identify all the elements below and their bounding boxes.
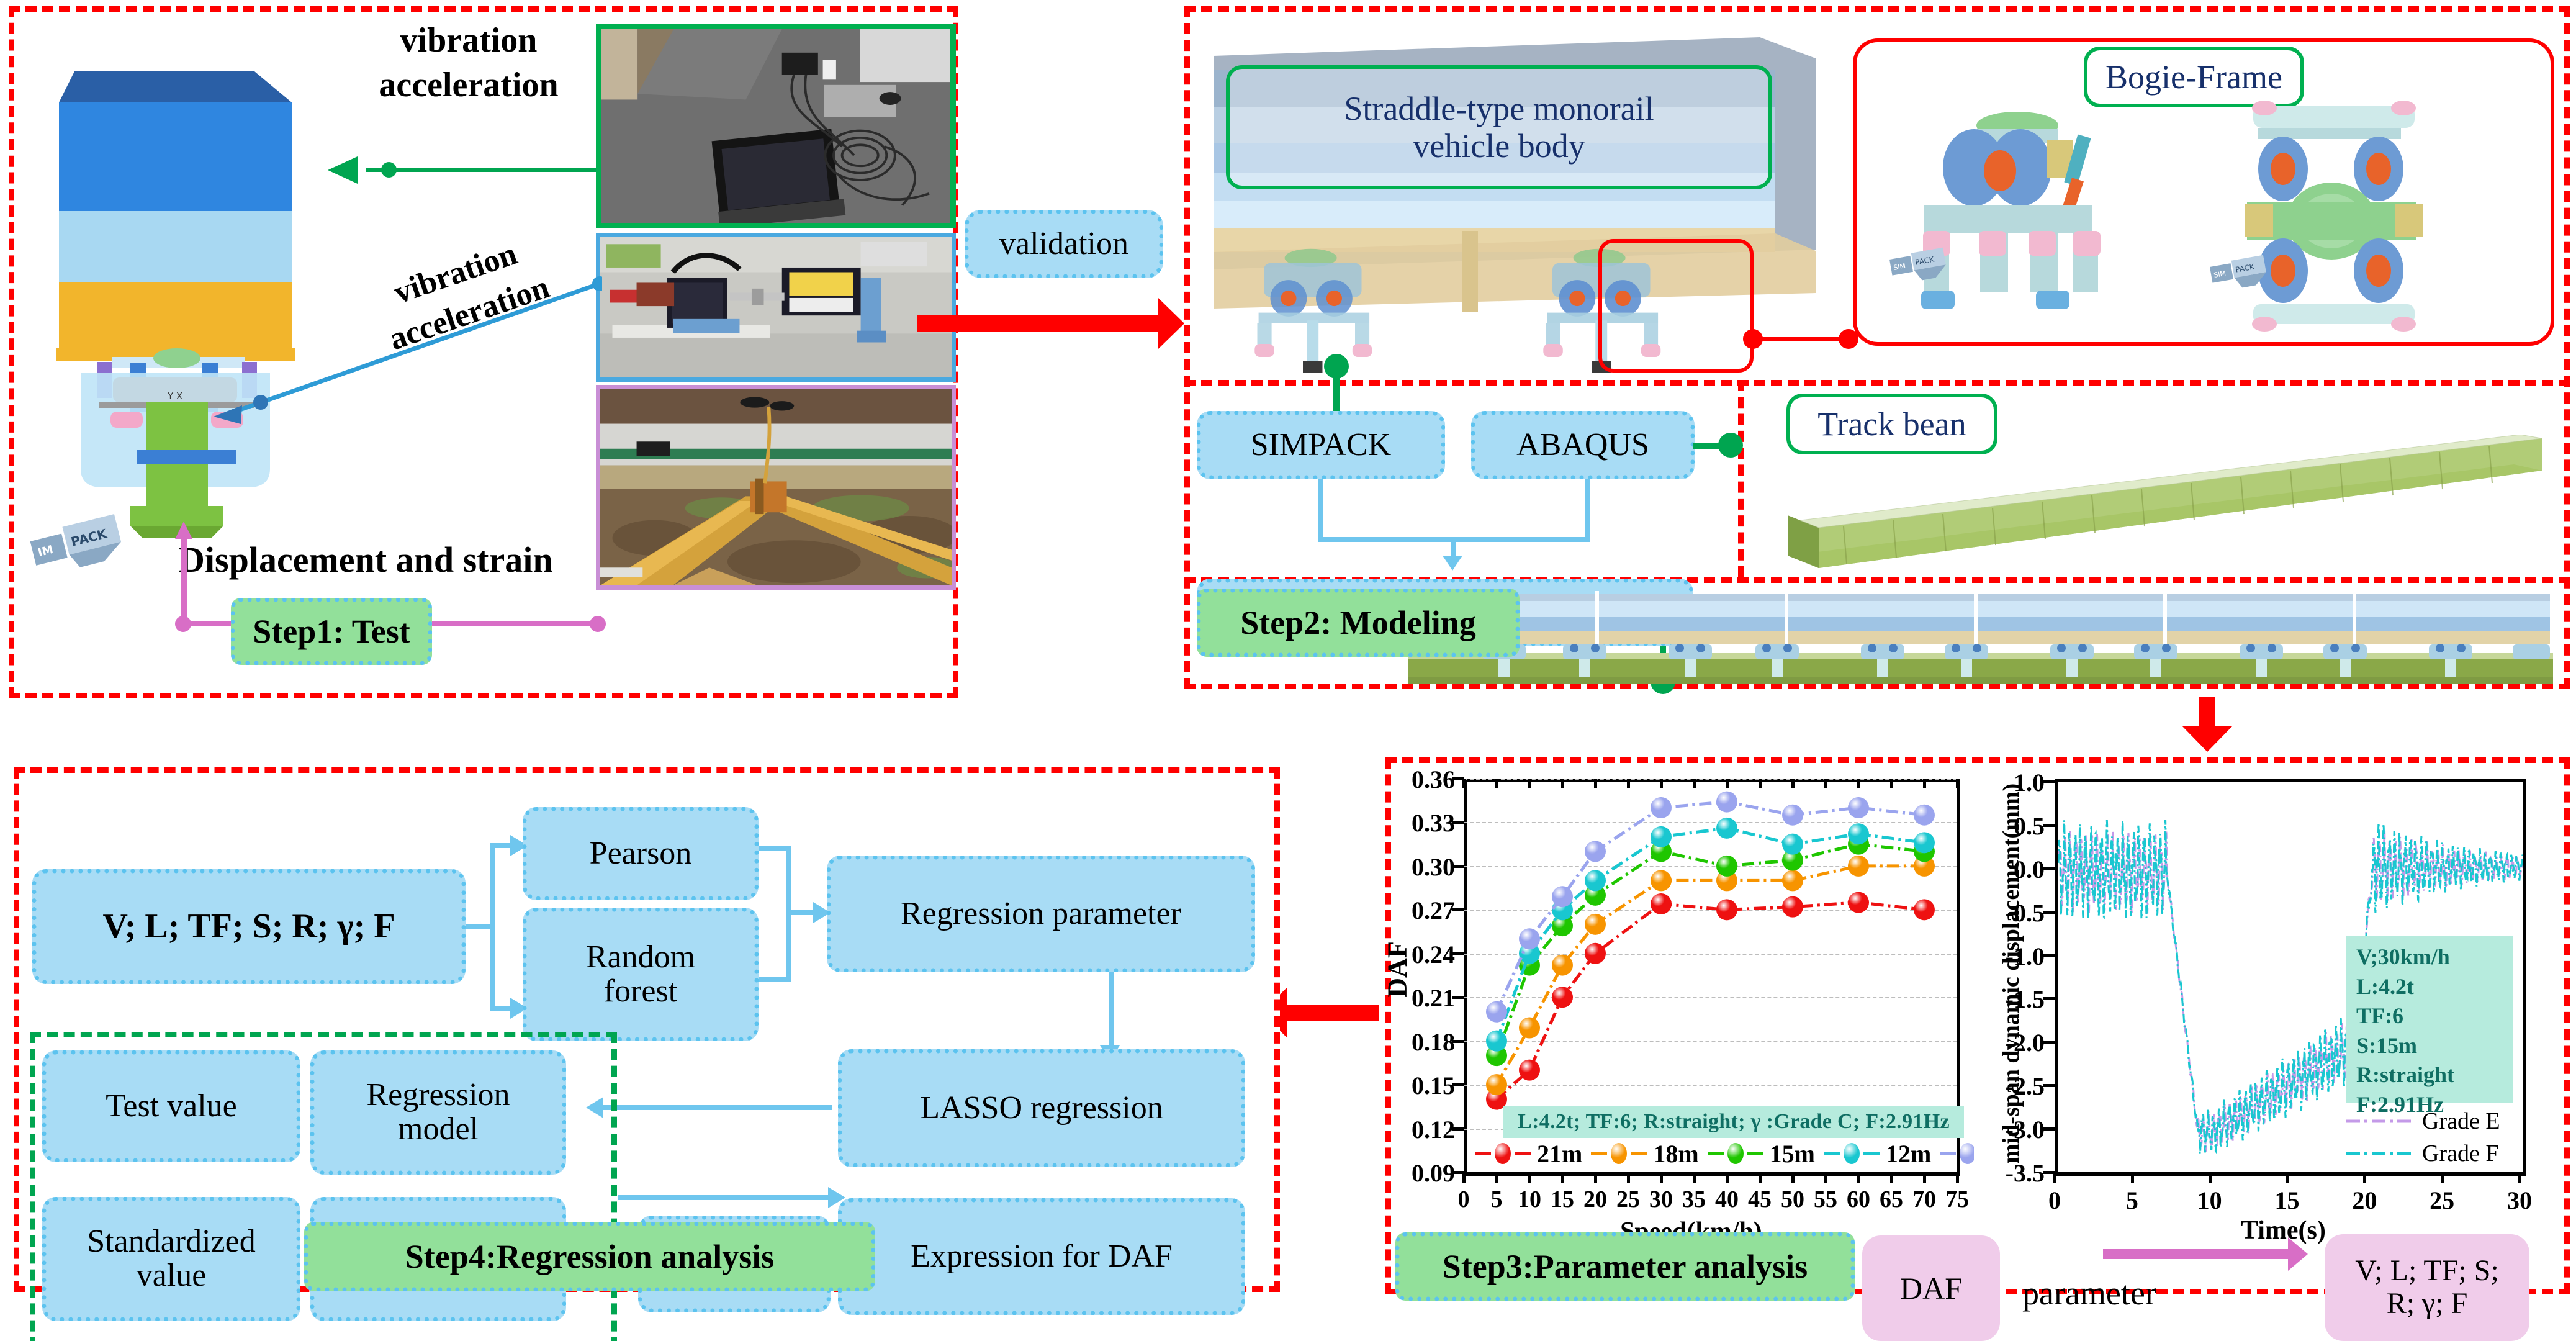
daf-legend-dash <box>1515 1152 1531 1155</box>
midspan-x-tick <box>2053 1172 2056 1183</box>
midspan-chart: -3.5-3.0-2.5-2.0-1.5-1.0-0.50.00.51.0 05… <box>1974 767 2557 1252</box>
daf-x-tick-top <box>1660 779 1663 788</box>
daf-x-tick <box>1627 1172 1630 1183</box>
joint-model-arrow <box>1451 537 1456 557</box>
track-beam-model <box>1781 435 2545 577</box>
daf-x-tick <box>1824 1172 1827 1183</box>
regression-parameter-box: Regression parameter <box>827 856 1255 972</box>
standardized-line1: Standardized <box>87 1225 255 1259</box>
photo-strain-gauge-track <box>596 385 956 590</box>
midspan-ann-2: TF:6 <box>2356 1001 2513 1031</box>
photo-accelerometer-sensors <box>596 233 956 382</box>
daf-data-point-12m <box>1585 870 1606 891</box>
vibration-acceleration-top-label: vibration acceleration <box>366 19 571 107</box>
daf-x-tick-top <box>1462 779 1466 788</box>
connector-magenta-dot-left <box>175 616 191 632</box>
daf-data-point-12m <box>1914 832 1935 853</box>
midspan-chart-legend-gradeF: Grade F <box>2346 1140 2498 1167</box>
midspan-x-tick <box>2441 1172 2444 1183</box>
midspan-y-tick <box>2043 954 2055 957</box>
step1-label-text: Step1: Test <box>253 612 410 651</box>
daf-y-ticklabel: 0.12 <box>1395 1115 1455 1144</box>
midspan-chart-xlabel: Time(s) <box>2241 1216 2326 1245</box>
validation-label: validation <box>999 227 1128 261</box>
daf-legend-dash <box>1940 1152 1956 1155</box>
vibration-top-line1: vibration <box>400 21 538 60</box>
daf-legend-label: 12m <box>1886 1139 1931 1168</box>
vehicle-body-line2: vehicle body <box>1413 127 1585 165</box>
daf-x-tick <box>1726 1172 1729 1183</box>
daf-x-tick <box>1561 1172 1564 1183</box>
step3-label: Step3:Parameter analysis <box>1395 1232 1855 1301</box>
midspan-x-tick <box>2518 1172 2521 1183</box>
daf-chart-annotation: L:4.2t; TF:6; R:straight; γ :Grade C; F:… <box>1503 1106 1964 1138</box>
photo-test-laptop-cables <box>596 24 956 228</box>
daf-x-tick <box>1890 1172 1893 1183</box>
bogie-callout-dot-left <box>1743 329 1763 349</box>
daf-x-tick <box>1660 1172 1663 1183</box>
daf-x-tick <box>1791 1172 1795 1183</box>
daf-x-tick-top <box>1561 779 1564 788</box>
midspan-y-tick <box>2043 911 2055 914</box>
connector-green-line <box>366 168 596 172</box>
vibration-top-line2: acceleration <box>379 66 558 104</box>
daf-data-point-21m <box>1519 1060 1540 1081</box>
daf-gridline <box>1464 954 1957 955</box>
daf-data-point-12m <box>1782 834 1803 855</box>
daf-legend-dash <box>1591 1152 1607 1155</box>
daf-x-tick <box>1528 1172 1531 1183</box>
daf-x-tick-top <box>1693 779 1696 788</box>
daf-x-tick <box>1594 1172 1597 1183</box>
daf-series-line-21m <box>1497 903 1924 1099</box>
daf-series-line-18m <box>1497 866 1924 1085</box>
midspan-x-ticklabel: 5 <box>2110 1186 2155 1215</box>
midspan-chart-x-axis <box>2055 1172 2526 1176</box>
expression-for-daf-label: Expression for DAF <box>911 1240 1173 1274</box>
daf-y-ticklabel: 0.36 <box>1395 765 1455 794</box>
daf-data-point-12m <box>1651 826 1672 847</box>
abaqus-label: ABAQUS <box>1516 428 1649 463</box>
daf-data-point-21m <box>1782 896 1803 918</box>
joint-model-line-left <box>1318 479 1323 541</box>
daf-gridline <box>1464 1041 1957 1042</box>
midspan-x-ticklabel: 15 <box>2265 1186 2310 1215</box>
methods-to-regression-parameter-arrow <box>791 910 814 915</box>
step4-label: Step4:Regression analysis <box>304 1222 875 1291</box>
daf-legend-marker <box>1727 1143 1744 1164</box>
daf-y-ticklabel: 0.30 <box>1395 852 1455 882</box>
midspan-y-tick <box>2043 1041 2055 1044</box>
daf-data-point-18m <box>1716 870 1737 891</box>
daf-series-svg <box>1397 767 1974 1252</box>
daf-x-tick <box>1857 1172 1860 1183</box>
step2-label-text: Step2: Modeling <box>1240 603 1476 642</box>
parameter-target-line1: V; L; TF; S; <box>2355 1255 2499 1288</box>
daf-data-point-10m <box>1651 797 1672 818</box>
software-box-simpack: SIMPACK <box>1197 411 1445 479</box>
daf-data-point-15m <box>1651 841 1672 862</box>
pearson-label: Pearson <box>590 837 692 871</box>
compare-to-expression-arrow <box>618 1195 829 1200</box>
daf-legend-marker <box>1495 1143 1511 1164</box>
daf-gridline <box>1464 1085 1957 1086</box>
green-arrowhead-left <box>328 156 358 184</box>
expression-for-daf-box: Expression for DAF <box>838 1198 1245 1315</box>
midspan-y-tick <box>2043 824 2055 827</box>
daf-x-tick <box>1759 1172 1762 1183</box>
inputs-box: V; L; TF; S; R; γ; F <box>32 869 466 984</box>
daf-legend-dash <box>1708 1152 1724 1155</box>
parameter-target-line2: R; γ; F <box>2387 1288 2468 1321</box>
daf-x-tick-top <box>1627 779 1630 788</box>
step2-divider-vertical <box>1738 380 1744 577</box>
daf-x-tick-top <box>1791 779 1795 788</box>
daf-x-tick-top <box>1726 779 1729 788</box>
midspan-ann-1: L:4.2t <box>2356 972 2513 1002</box>
test-value-label: Test value <box>106 1090 237 1124</box>
daf-x-tick-top <box>1857 779 1860 788</box>
daf-legend-dash <box>1631 1152 1647 1155</box>
lasso-regression-box: LASSO regression <box>838 1049 1245 1167</box>
daf-x-tick-top <box>1528 779 1531 788</box>
daf-y-ticklabel: 0.09 <box>1395 1158 1455 1188</box>
step3-label-text: Step3:Parameter analysis <box>1443 1247 1808 1286</box>
daf-chart-y-axis <box>1464 779 1467 1176</box>
bogie-frame-top-view: SIM PACK <box>2210 99 2508 338</box>
daf-series-line-12m <box>1497 828 1924 1041</box>
regression-model-line2: model <box>398 1113 479 1147</box>
daf-data-point-18m <box>1519 1018 1540 1039</box>
daf-legend-dash <box>1747 1152 1763 1155</box>
daf-gridline <box>1464 779 1957 780</box>
vehicle-body-label: Straddle-type monorail vehicle body <box>1226 65 1772 189</box>
daf-chart: 0.090.120.150.180.210.240.270.300.330.36… <box>1397 767 1974 1252</box>
daf-data-point-18m <box>1782 870 1803 891</box>
midspan-x-tick <box>2363 1172 2366 1183</box>
simpack-label: SIMPACK <box>1251 428 1391 463</box>
daf-y-ticklabel: 0.15 <box>1395 1071 1455 1100</box>
step2-label: Step2: Modeling <box>1197 589 1520 657</box>
daf-gridline <box>1464 910 1957 911</box>
inputs-to-pearson-arrow <box>495 843 511 848</box>
method-box-pearson: Pearson <box>523 807 759 900</box>
daf-x-tick-top <box>1923 779 1926 788</box>
random-forest-line2: forest <box>604 975 677 1009</box>
random-forest-line1: Random <box>586 941 695 975</box>
method-box-random-forest: Random forest <box>523 908 759 1041</box>
daf-data-point-15m <box>1914 841 1935 862</box>
daf-x-ticklabel: 75 <box>1935 1186 1979 1213</box>
daf-data-point-10m <box>1716 792 1737 813</box>
midspan-chart-legend-gradeE: Grade E <box>2346 1108 2500 1135</box>
inputs-to-random-forest-arrow <box>495 1006 511 1011</box>
daf-gridline <box>1464 997 1957 998</box>
daf-data-point-10m <box>1848 797 1869 818</box>
midspan-y-tick <box>2043 867 2055 870</box>
midspan-y-tick <box>2043 1127 2055 1131</box>
midspan-ann-3: S:15m <box>2356 1031 2513 1061</box>
svg-text:Y X: Y X <box>167 391 182 402</box>
regression-model-line1: Regression <box>366 1078 510 1113</box>
daf-series-line-10m <box>1497 802 1924 1012</box>
step4-label-text: Step4:Regression analysis <box>405 1237 775 1276</box>
lasso-regression-label: LASSO regression <box>920 1091 1163 1126</box>
daf-data-point-10m <box>1519 928 1540 949</box>
connector-magenta-up <box>181 535 187 623</box>
daf-y-ticklabel: 0.27 <box>1395 896 1455 925</box>
midspan-x-tick <box>2286 1172 2289 1183</box>
daf-chart-legend: 21m18m15m12m10m <box>1475 1140 2056 1167</box>
daf-data-point-15m <box>1848 834 1869 855</box>
daf-x-tick <box>1956 1172 1959 1183</box>
connector-magenta-dot-right <box>590 616 606 632</box>
regression-model-box: Regression model <box>310 1050 566 1175</box>
bogie-callout-line <box>1754 337 1848 341</box>
daf-chart-ylabel: DAF <box>1382 941 1413 997</box>
daf-data-point-10m <box>1552 886 1573 907</box>
regression-parameter-to-lasso-arrow <box>1109 1031 1114 1047</box>
daf-data-point-10m <box>1585 841 1606 862</box>
daf-legend-marker <box>1844 1143 1860 1164</box>
bogie-frame-side-view: SIM PACK <box>1887 106 2191 335</box>
daf-y-ticklabel: 0.33 <box>1395 808 1455 838</box>
daf-data-point-18m <box>1552 955 1573 976</box>
midspan-x-ticklabel: 30 <box>2497 1186 2542 1215</box>
standardized-line2: value <box>137 1259 207 1293</box>
midspan-ann-0: V;30km/h <box>2356 942 2513 972</box>
connector-green-dot <box>381 162 397 178</box>
validation-box: validation <box>965 210 1163 278</box>
daf-data-point-15m <box>1585 885 1606 906</box>
step2-to-step3-arrow <box>2199 697 2215 727</box>
midspan-x-tick <box>2131 1172 2134 1183</box>
daf-output-box: DAF <box>1862 1235 2000 1341</box>
midspan-y-tick <box>2043 997 2055 1000</box>
midspan-x-tick <box>2209 1172 2212 1183</box>
inputs-label: V; L; TF; S; R; γ; F <box>102 908 395 945</box>
parameter-arrow-label: parameter <box>2022 1274 2156 1312</box>
daf-x-tick-top <box>1956 779 1959 788</box>
daf-x-tick <box>1693 1172 1696 1183</box>
daf-legend-dash <box>1863 1152 1880 1155</box>
step2-divider-horizontal <box>1184 380 2570 386</box>
midspan-x-ticklabel: 25 <box>2420 1186 2464 1215</box>
daf-x-tick-top <box>1495 779 1498 788</box>
regression-parameter-label: Regression parameter <box>901 897 1181 931</box>
daf-data-point-18m <box>1585 914 1606 935</box>
midspan-chart-right-frame <box>2523 779 2526 1176</box>
daf-data-point-21m <box>1651 893 1672 914</box>
daf-legend-dash <box>1824 1152 1840 1155</box>
daf-y-ticklabel: 0.18 <box>1395 1027 1455 1057</box>
connector-blue-diagonal <box>205 276 602 431</box>
daf-x-tick-top <box>1759 779 1762 788</box>
magenta-arrowhead-up <box>175 521 192 539</box>
test-value-box: Test value <box>42 1050 300 1162</box>
daf-data-point-15m <box>1782 849 1803 870</box>
daf-data-point-12m <box>1716 818 1737 839</box>
software-box-abaqus: ABAQUS <box>1471 411 1695 479</box>
midspan-y-tick <box>2043 1084 2055 1087</box>
daf-legend-label: 21m <box>1537 1139 1582 1168</box>
daf-x-tick <box>1462 1172 1466 1183</box>
bogie-frame-label: Bogie-Frame <box>2084 47 2304 107</box>
step3-to-step4-arrow <box>1286 1005 1379 1021</box>
midspan-chart-ylabel: mid-span dynamic displacement(mm) <box>1997 775 2025 1172</box>
joint-model-line-right <box>1585 479 1590 541</box>
methods-merge-vertical <box>786 846 791 982</box>
midspan-legend-label-1: Grade F <box>2422 1140 2498 1167</box>
daf-x-tick <box>1923 1172 1926 1183</box>
midspan-x-ticklabel: 20 <box>2342 1186 2387 1215</box>
standardized-value-box: Standardized value <box>42 1197 300 1321</box>
daf-data-point-15m <box>1519 955 1540 976</box>
daf-data-point-15m <box>1486 1045 1507 1066</box>
daf-data-point-15m <box>1552 915 1573 936</box>
step1-label: Step1: Test <box>231 598 432 665</box>
parameter-target-box: V; L; TF; S; R; γ; F <box>2325 1234 2529 1341</box>
daf-x-tick-top <box>1824 779 1827 788</box>
midspan-legend-label-0: Grade E <box>2422 1108 2500 1135</box>
daf-legend-dash <box>1475 1152 1491 1155</box>
displacement-strain-label: Displacement and strain <box>179 539 553 580</box>
full-train-model <box>1408 584 2556 689</box>
daf-x-tick-top <box>1594 779 1597 788</box>
midspan-x-ticklabel: 10 <box>2187 1186 2232 1215</box>
lasso-to-regression-model-arrow <box>602 1105 832 1110</box>
simpack-connector-dot <box>1324 354 1349 379</box>
vehicle-body-line1: Straddle-type monorail <box>1344 90 1654 127</box>
daf-chart-x-axis <box>1464 1172 1960 1176</box>
midspan-chart-annotation: V;30km/h L:4.2t TF:6 S:15m R:straight F:… <box>2346 936 2513 1103</box>
daf-legend-marker <box>1611 1143 1627 1164</box>
daf-gridline <box>1464 866 1957 867</box>
midspan-x-ticklabel: 0 <box>2032 1186 2077 1215</box>
daf-gridline <box>1464 822 1957 823</box>
midspan-ann-4: R:straight <box>2356 1060 2513 1090</box>
daf-series-line-15m <box>1497 844 1924 1055</box>
daf-legend-label: 18m <box>1653 1139 1698 1168</box>
bogie-frame-label-text: Bogie-Frame <box>2105 58 2282 96</box>
abaqus-connector-dot <box>1718 433 1743 458</box>
parameter-arrow <box>2103 1249 2289 1259</box>
inputs-split-vertical <box>490 843 495 1011</box>
daf-legend-label: 15m <box>1770 1139 1815 1168</box>
midspan-y-tick <box>2043 780 2055 783</box>
validation-arrow <box>917 315 1160 332</box>
daf-x-tick-top <box>1890 779 1893 788</box>
daf-data-point-10m <box>1486 1001 1507 1023</box>
daf-data-point-12m <box>1848 823 1869 844</box>
daf-data-point-18m <box>1651 870 1672 891</box>
daf-x-tick <box>1495 1172 1498 1183</box>
bogie-highlight-box <box>1598 239 1754 372</box>
daf-output-label: DAF <box>1900 1271 1962 1306</box>
